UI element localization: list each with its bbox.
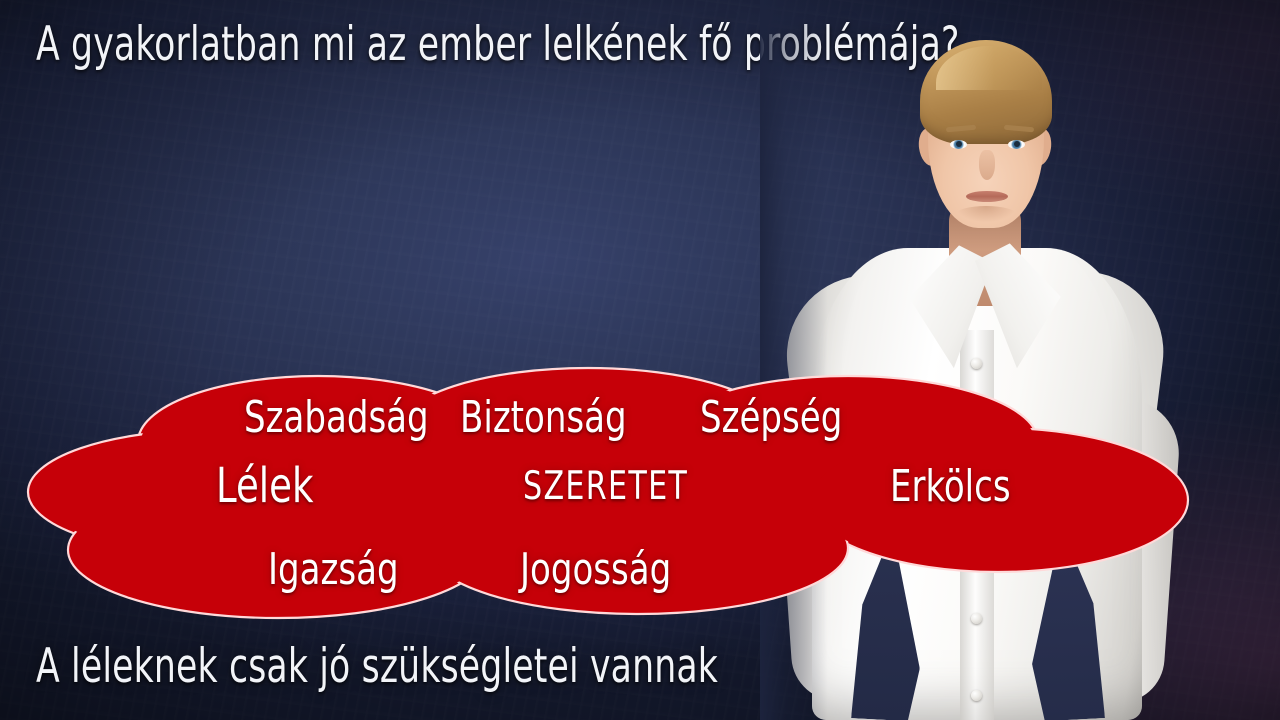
slide-caption: A léleknek csak jó szükségletei vannak (36, 640, 718, 694)
cloud-word-lelek: Lélek (216, 458, 314, 514)
pupil-left (956, 141, 962, 147)
slide-canvas: Szabadság Biztonság Szépség Lélek SZERET… (0, 0, 1280, 720)
cloud-word-biztonsag: Biztonság (460, 392, 627, 443)
cloud-word-szabadsag: Szabadság (244, 392, 429, 443)
cloud-word-szeretet: SZERETET (523, 464, 688, 509)
mouth (966, 191, 1008, 202)
pupil-right (1014, 141, 1020, 147)
chin-shadow (956, 206, 1016, 222)
cloud-word-igazsag: Igazság (268, 544, 399, 595)
shirt-button (971, 690, 982, 701)
cloud-word-jogossag: Jogosság (520, 544, 671, 595)
cloud-word-szepseg: Szépség (700, 392, 842, 443)
cloud-word-erkolcs: Erkölcs (890, 461, 1011, 512)
nose (979, 150, 995, 180)
